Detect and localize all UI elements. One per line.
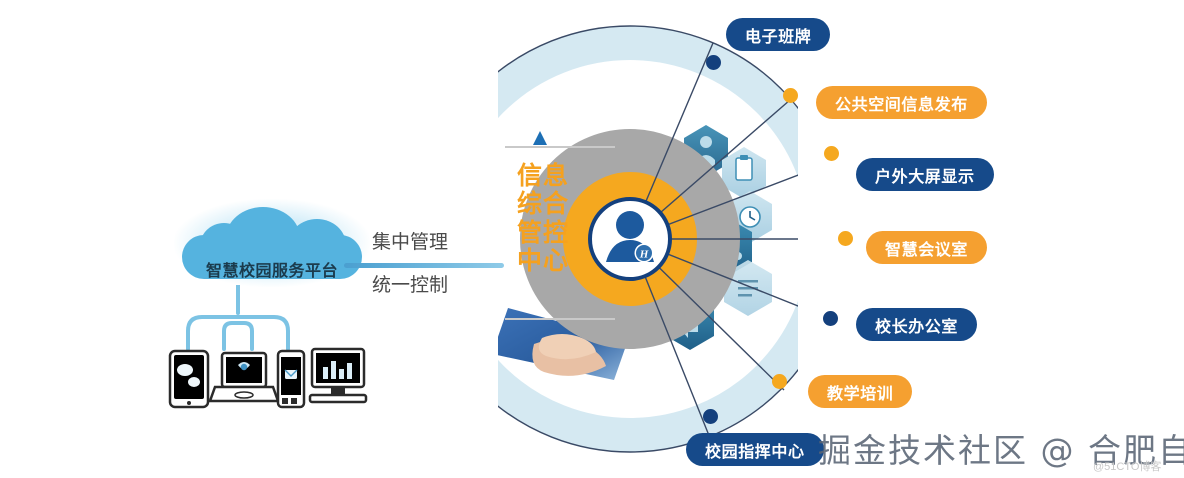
node-dot-5[interactable]: [772, 374, 787, 389]
node-label-outdoor-large-screen[interactable]: 户外大屏显示: [856, 158, 994, 191]
device-branch-tree: [160, 285, 410, 415]
cloud-connector-line: [344, 263, 504, 268]
node-label-principal-office[interactable]: 校长办公室: [856, 308, 977, 341]
divider-bottom: [505, 318, 615, 320]
laptop-icon: [210, 353, 278, 401]
desktop-monitor-icon: [310, 349, 366, 402]
node-dot-0[interactable]: [706, 55, 721, 70]
node-label-electronic-class-board[interactable]: 电子班牌: [726, 18, 830, 51]
infographic-canvas: 智慧校园服务平台 集中管理 统一控制: [0, 0, 1184, 478]
hub-badge-letter: H: [639, 249, 649, 261]
connector-top-label: 集中管理: [372, 227, 448, 254]
tablet-icon: [170, 351, 208, 407]
cloud-platform-label: 智慧校园服务平台: [186, 257, 358, 281]
node-dot-3[interactable]: [838, 231, 853, 246]
node-dot-2[interactable]: [824, 146, 839, 161]
hub-title-line-2: 综合: [512, 190, 574, 218]
hub-title-line-1: 信息: [512, 162, 574, 190]
watermark-small-text: @51CTO博客: [1093, 458, 1161, 474]
smart-campus-platform-group: 智慧校园服务平台 集中管理 统一控制: [160, 185, 500, 415]
hub-title-line-3: 管控: [512, 219, 574, 247]
node-label-campus-command-center[interactable]: 校园指挥中心: [686, 433, 824, 466]
hub-title: 信息 综合 管控 中心: [512, 162, 574, 275]
node-dot-4[interactable]: [823, 311, 838, 326]
smartphone-icon: [278, 351, 304, 407]
node-dot-6[interactable]: [703, 409, 718, 424]
node-label-smart-meeting-room[interactable]: 智慧会议室: [866, 231, 987, 264]
divider-top: [505, 146, 615, 148]
triangle-marker-icon: [533, 131, 547, 145]
hub-title-line-4: 中心: [512, 247, 574, 275]
node-label-teaching-training[interactable]: 教学培训: [808, 375, 912, 408]
node-label-public-space-info-release[interactable]: 公共空间信息发布: [816, 86, 987, 119]
node-dot-1[interactable]: [783, 88, 798, 103]
